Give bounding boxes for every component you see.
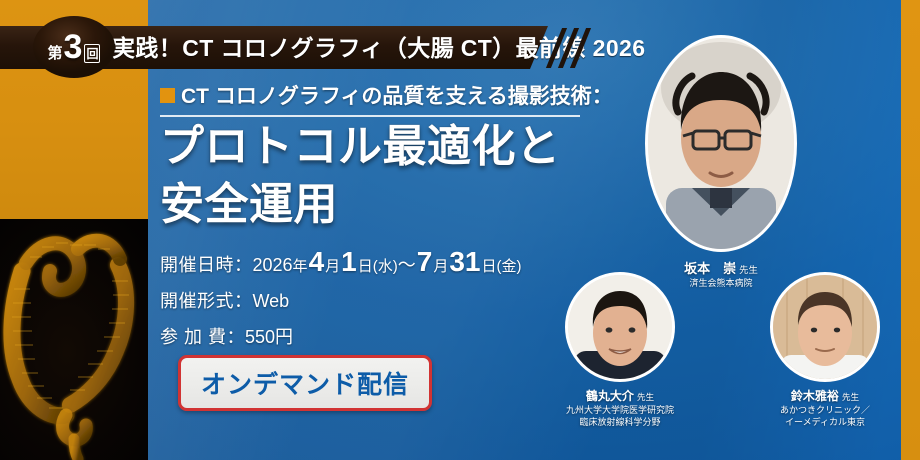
seminar-banner: 実践！CT コロノグラフィ（大腸 CT）最前線 2026 第 3 回 CT コロ…	[0, 0, 920, 460]
avatar	[770, 272, 880, 382]
speaker-org-line-1: 九州大学大学院医学研究院	[552, 405, 688, 416]
date-end-month: 7	[417, 248, 433, 276]
badge-prefix: 第	[48, 42, 63, 63]
info-row-format: 開催形式： Web	[160, 287, 522, 313]
speaker-honorific: 先生	[842, 392, 859, 402]
format-label: 開催形式：	[160, 287, 253, 313]
speaker-name-text: 坂本 崇	[684, 261, 736, 276]
right-orange-edge	[901, 0, 920, 460]
avatar	[565, 272, 675, 382]
speaker-name: 鶴丸大介先生	[552, 387, 688, 404]
date-month-unit-2: 月	[433, 255, 448, 276]
fee-label: 参 加 費：	[160, 323, 245, 349]
info-row-date: 開催日時： 2026 年 4 月 1 日 (水) 〜 7 月 31 日 (金)	[160, 248, 522, 277]
date-month-unit-1: 月	[325, 255, 340, 276]
page-title: プロトコル最適化と 安全運用	[160, 118, 590, 234]
title-line-1: プロトコル最適化と	[160, 118, 590, 176]
on-demand-button[interactable]: オンデマンド配信	[178, 355, 432, 411]
date-year-unit: 年	[293, 255, 308, 276]
title-line-2: 安全運用	[160, 176, 590, 234]
date-label: 開催日時：	[160, 251, 253, 277]
badge-suffix: 回	[84, 44, 100, 63]
speaker-third: 鈴木雅裕先生 あかつきクリニック／ イーメディカル東京	[757, 272, 893, 429]
badge-number: 3	[64, 30, 83, 64]
date-range-mark: 〜	[398, 251, 416, 277]
date-start-weekday: (水)	[373, 255, 398, 276]
date-start-day: 1	[341, 248, 357, 276]
square-bullet-icon	[160, 88, 175, 103]
date-day-unit-1: 日	[358, 255, 373, 276]
diagonal-slashes-decoration	[552, 28, 592, 68]
speaker-org-line-2: 臨床放射線科学分野	[552, 417, 688, 428]
event-info: 開催日時： 2026 年 4 月 1 日 (水) 〜 7 月 31 日 (金) …	[160, 248, 522, 359]
speaker-honorific: 先生	[637, 392, 654, 402]
date-start-month: 4	[309, 248, 325, 276]
colon-ct-illustration	[0, 219, 148, 460]
speaker-org-line-2: イーメディカル東京	[757, 417, 893, 428]
date-end-day: 31	[449, 248, 480, 276]
speaker-name-text: 鈴木雅裕	[791, 389, 839, 403]
date-year: 2026	[253, 255, 293, 276]
info-row-fee: 参 加 費： 550円	[160, 323, 522, 349]
avatar	[645, 35, 797, 252]
speaker-name: 鈴木雅裕先生	[757, 387, 893, 404]
subtitle-text: CT コロノグラフィの品質を支える撮影技術：	[181, 80, 613, 110]
date-end-weekday: (金)	[497, 255, 522, 276]
speaker-org-line-1: あかつきクリニック／	[757, 405, 893, 416]
edition-badge: 第 3 回	[33, 16, 115, 78]
speaker-name-text: 鶴丸大介	[586, 389, 634, 403]
speaker-honorific: 先生	[739, 265, 758, 275]
speaker-second: 鶴丸大介先生 九州大学大学院医学研究院 臨床放射線科学分野	[552, 272, 688, 429]
fee-value: 550円	[245, 323, 293, 349]
subtitle-line: CT コロノグラフィの品質を支える撮影技術：	[160, 80, 580, 117]
speaker-main: 坂本 崇先生 済生会熊本病院	[645, 35, 797, 289]
format-value: Web	[253, 291, 290, 312]
date-day-unit-2: 日	[482, 255, 497, 276]
